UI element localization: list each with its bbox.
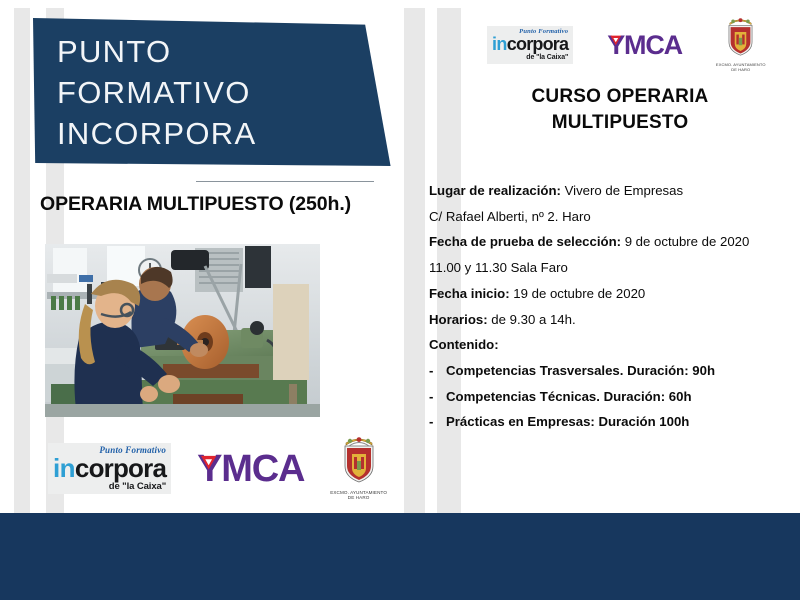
decorative-gray-bar-3 [404,8,425,513]
haro-crest-logo: EXCMO. AYUNTAMIENTO DE HARO [330,437,387,501]
detail-row: Lugar de realización: Vivero de Empresas [429,184,794,197]
detail-bullet-item: -Prácticas en Empresas: Duración 100h [429,415,794,428]
detail-row: Fecha inicio: 19 de octubre de 2020 [429,287,794,300]
incorpora-logo-corpora: corpora [75,453,166,483]
workshop-photo [45,244,320,417]
detail-row-value: C/ Rafael Alberti, nº 2. Haro [429,209,591,224]
ymca-letters-mca-2: MCA [624,32,682,59]
ymca-letters-mca: MCA [221,450,304,488]
detail-row-value: 11.00 y 11.30 Sala Faro [429,260,568,275]
detail-row: Contenido: [429,338,794,351]
detail-row-label: Contenido: [429,337,499,352]
detail-row: C/ Rafael Alberti, nº 2. Haro [429,210,794,223]
bullet-text: Competencias Trasversales. Duración: 90h [446,364,715,377]
haro-crest-caption: EXCMO. AYUNTAMIENTO DE HARO [330,490,387,501]
incorpora-tagline-bottom: de "la Caixa" [53,482,166,492]
decorative-gray-bar-1 [14,8,30,513]
course-details: Lugar de realización: Vivero de Empresas… [429,184,794,441]
detail-row-value: Vivero de Empresas [565,183,684,198]
ymca-triangle-icon [200,455,217,470]
bullet-dash-marker: - [429,390,434,403]
detail-bullets: -Competencias Trasversales. Duración: 90… [429,364,794,429]
banner-line-3: INCORPORA [57,116,256,152]
haro-coat-of-arms-icon-2 [724,18,757,56]
detail-bullet-item: -Competencias Trasversales. Duración: 90… [429,364,794,377]
detail-bullet-item: -Competencias Técnicas. Duración: 60h [429,390,794,403]
detail-row-value: de 9.30 a 14h. [491,312,575,327]
poster-root: PUNTO FORMATIVO INCORPORA OPERARIA MULTI… [0,0,800,600]
haro-crest-caption-top: EXCMO. AYUNTAMIENTO DE HARO [716,63,766,72]
course-subtitle: OPERARIA MULTIPUESTO (250h.) [40,192,385,217]
ymca-logo: Y MCA [197,450,304,488]
detail-row-value: 9 de octubre de 2020 [625,234,750,249]
detail-row: Horarios: de 9.30 a 14h. [429,313,794,326]
detail-row-label: Fecha inicio: [429,286,513,301]
course-heading: CURSO OPERARIA MULTIPUESTO [470,84,770,135]
detail-row-value: 19 de octubre de 2020 [513,286,645,301]
incorpora-logo-in: in [53,453,75,483]
ymca-logo-y: Y [197,450,221,488]
title-banner: PUNTO FORMATIVO INCORPORA [33,18,396,166]
divider-rule [196,181,374,182]
ymca-logo-top: Y MCA [607,32,682,59]
detail-row: 11.00 y 11.30 Sala Faro [429,261,794,274]
footer-bar: LOGROÑO Plza. Martínez Flamarique. 12-13… [0,513,800,600]
incorpora-logo-corpora-2: corpora [507,34,568,54]
incorpora-logo-top: Punto Formativo incorpora de "la Caixa" [487,26,573,65]
haro-coat-of-arms-icon [339,437,379,483]
detail-row-label: Horarios: [429,312,491,327]
haro-crest-caption-line-2: DE HARO [330,495,387,500]
bullet-dash-marker: - [429,415,434,428]
haro-crest-logo-top: EXCMO. AYUNTAMIENTO DE HARO [716,18,766,72]
logo-row-bottom: Punto Formativo incorpora de "la Caixa" … [48,437,387,501]
bullet-text: Prácticas en Empresas: Duración 100h [446,415,689,428]
haro-crest-caption-top-line-2: DE HARO [716,68,766,73]
course-heading-line-1: CURSO OPERARIA [470,84,770,110]
logo-row-top: Punto Formativo incorpora de "la Caixa" … [487,18,766,72]
ymca-logo-y-2: Y [607,32,624,59]
detail-rows: Lugar de realización: Vivero de Empresas… [429,184,794,351]
course-heading-line-2: MULTIPUESTO [470,110,770,136]
incorpora-logo: Punto Formativo incorpora de "la Caixa" [48,443,171,494]
banner-line-1: PUNTO [57,34,171,70]
detail-row-label: Fecha de prueba de selección: [429,234,625,249]
bullet-text: Competencias Técnicas. Duración: 60h [446,390,692,403]
incorpora-logo-in-2: in [492,34,507,54]
detail-row-label: Lugar de realización: [429,183,565,198]
incorpora-tagline-bottom-2: de "la Caixa" [492,54,568,61]
banner-line-2: FORMATIVO [57,75,251,111]
detail-row: Fecha de prueba de selección: 9 de octub… [429,235,794,248]
bullet-dash-marker: - [429,364,434,377]
ymca-triangle-icon-2 [609,35,621,46]
